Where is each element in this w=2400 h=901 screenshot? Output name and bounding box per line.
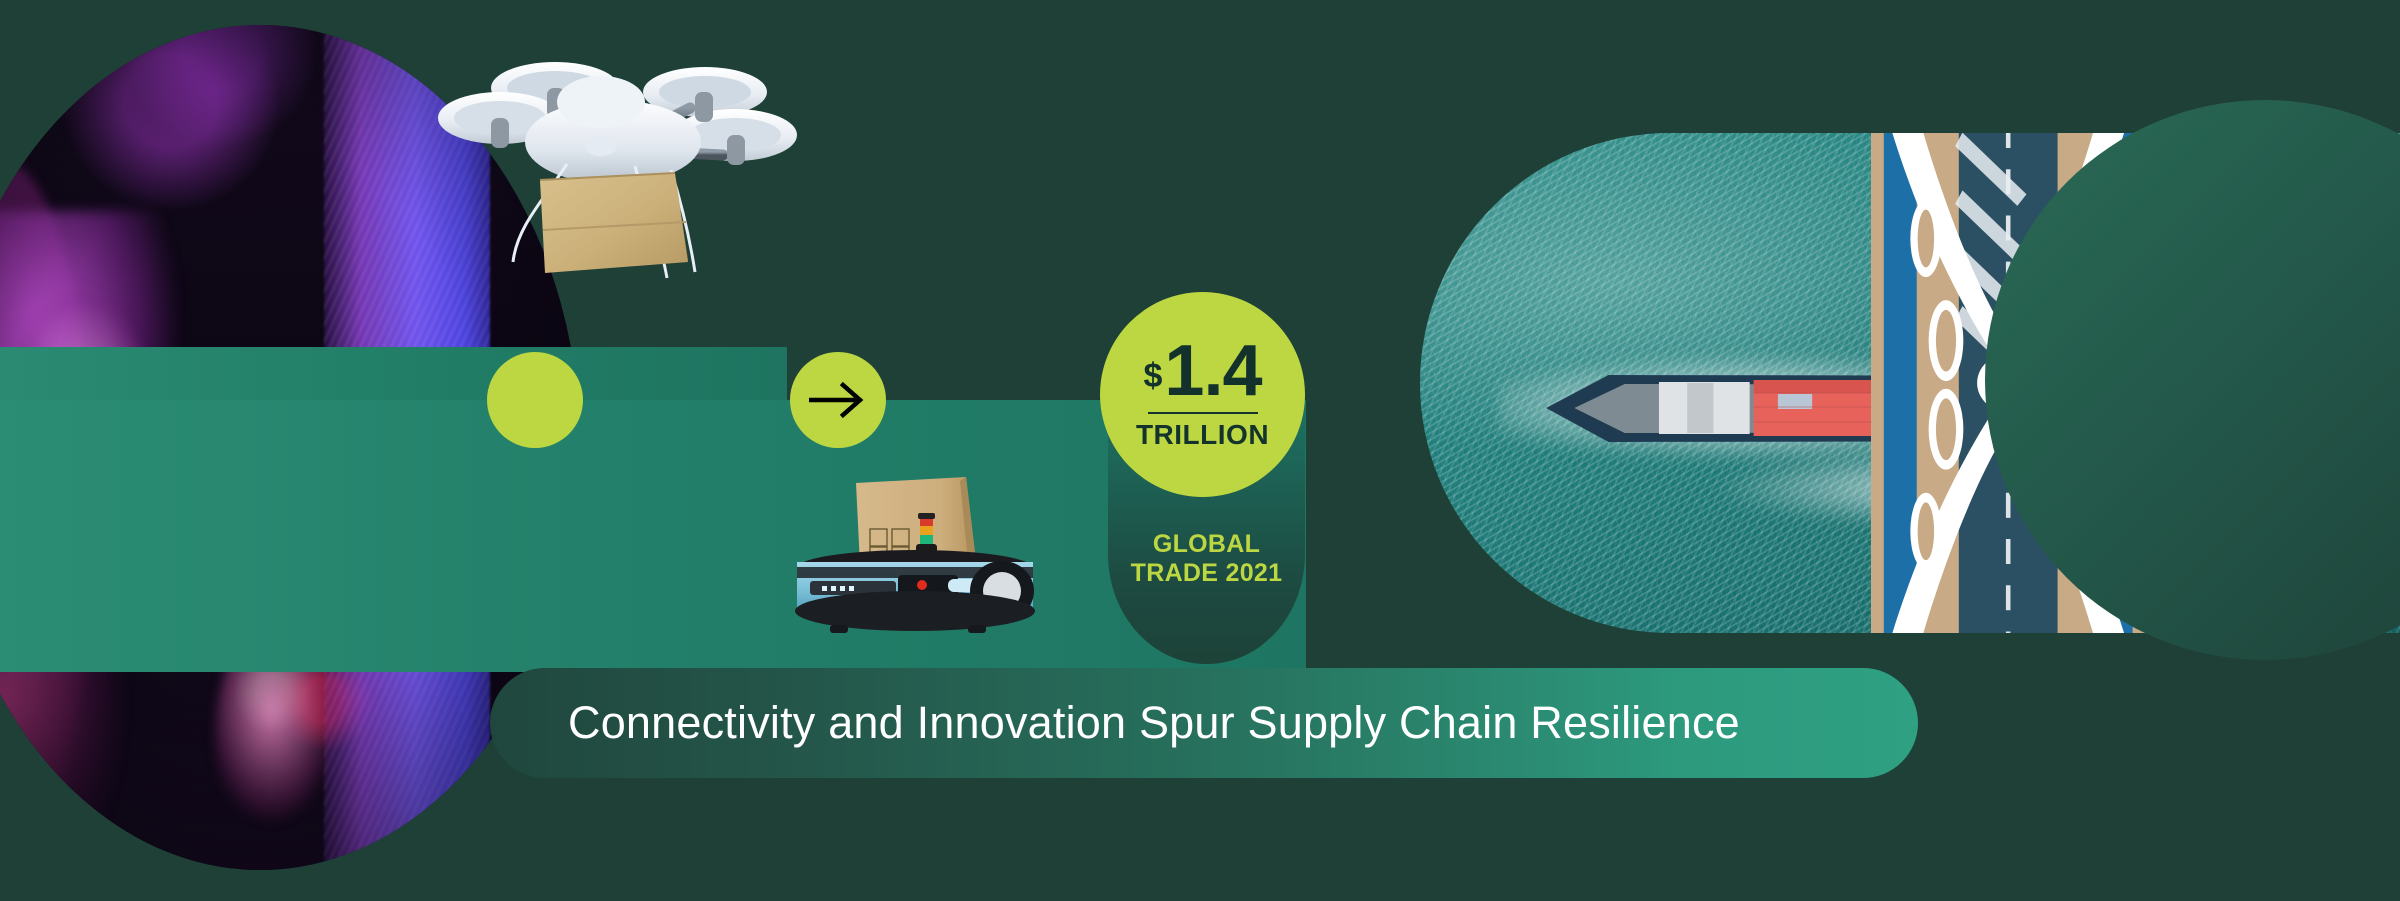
lime-dot-marker bbox=[487, 352, 583, 448]
agv-robot-icon bbox=[770, 455, 1060, 645]
stat-badge-circle: $ 1.4 TRILLION bbox=[1100, 292, 1305, 497]
delivery-drone-icon bbox=[405, 30, 815, 300]
page-title: Connectivity and Innovation Spur Supply … bbox=[490, 697, 1740, 749]
stat-value: 1.4 bbox=[1164, 338, 1261, 404]
stat-badge-label-line1: GLOBAL bbox=[1108, 530, 1305, 559]
banner-canvas: GLOBAL TRADE 2021 $ 1.4 TRILLION Connect… bbox=[0, 0, 2400, 901]
currency-symbol: $ bbox=[1143, 361, 1162, 392]
stat-badge-divider bbox=[1148, 412, 1258, 414]
stat-unit: TRILLION bbox=[1136, 419, 1269, 451]
title-banner: Connectivity and Innovation Spur Supply … bbox=[490, 668, 1918, 778]
stat-badge-label: GLOBAL TRADE 2021 bbox=[1108, 530, 1305, 588]
arrow-right-icon bbox=[790, 352, 886, 448]
stat-badge-label-line2: TRADE 2021 bbox=[1108, 559, 1305, 588]
stat-badge: GLOBAL TRADE 2021 $ 1.4 TRILLION bbox=[1108, 296, 1305, 664]
stat-badge-amount: $ 1.4 bbox=[1143, 338, 1261, 404]
